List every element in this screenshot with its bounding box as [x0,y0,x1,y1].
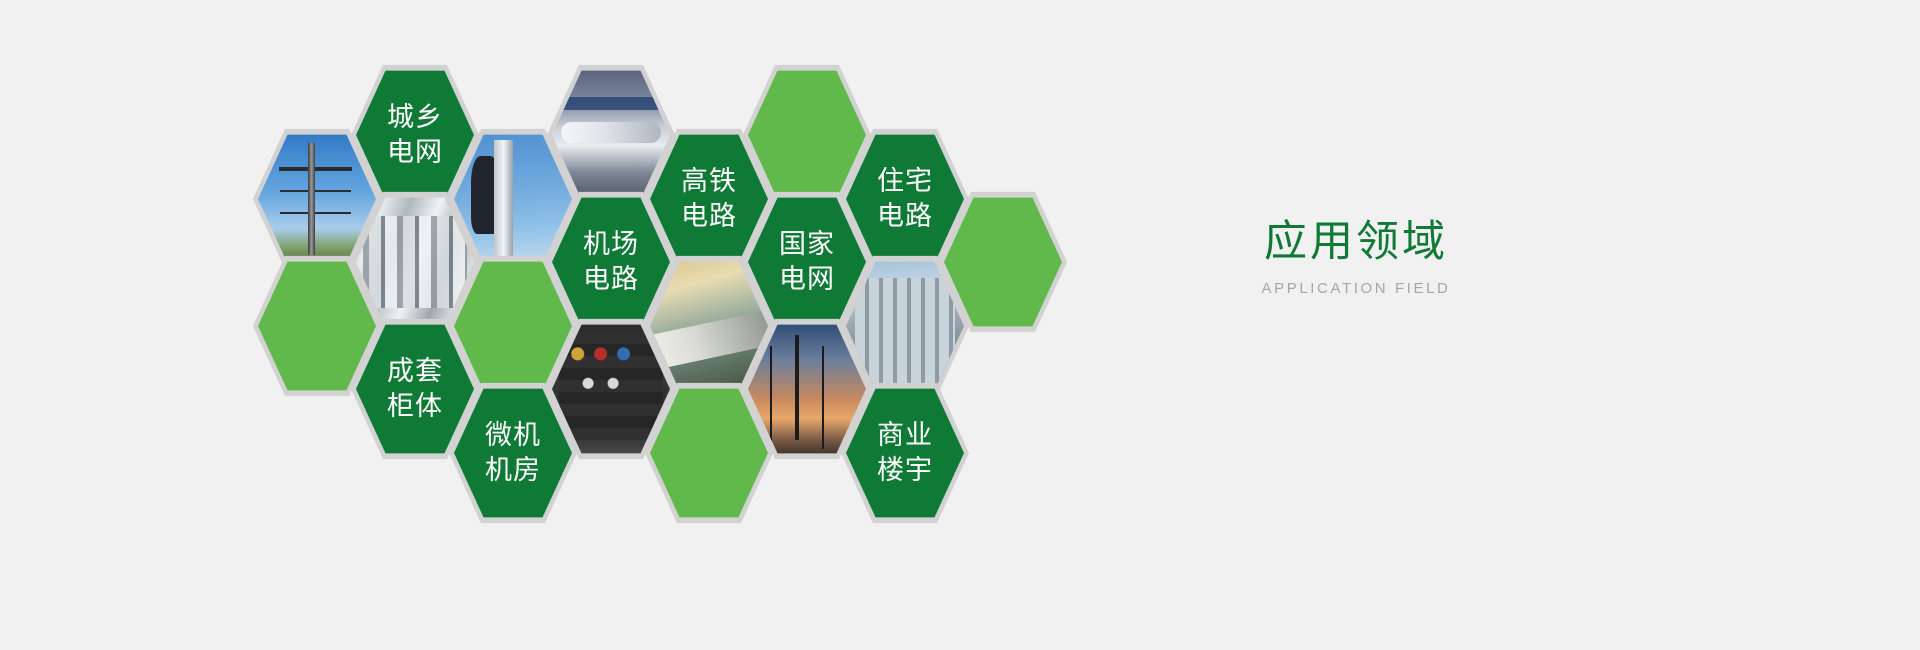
page-title: 应用领域 [1146,219,1566,266]
headline-block: 应用领域 APPLICATION FIELD [1146,219,1566,297]
application-field-banner: 城乡 电网 成套 柜体 微机 机房 [0,0,1920,650]
hexagon-plain-green-right[interactable] [939,189,1067,335]
page-subtitle: APPLICATION FIELD [1146,280,1566,297]
hexagon-commercial-building[interactable]: 商业 楼宇 [841,380,969,526]
